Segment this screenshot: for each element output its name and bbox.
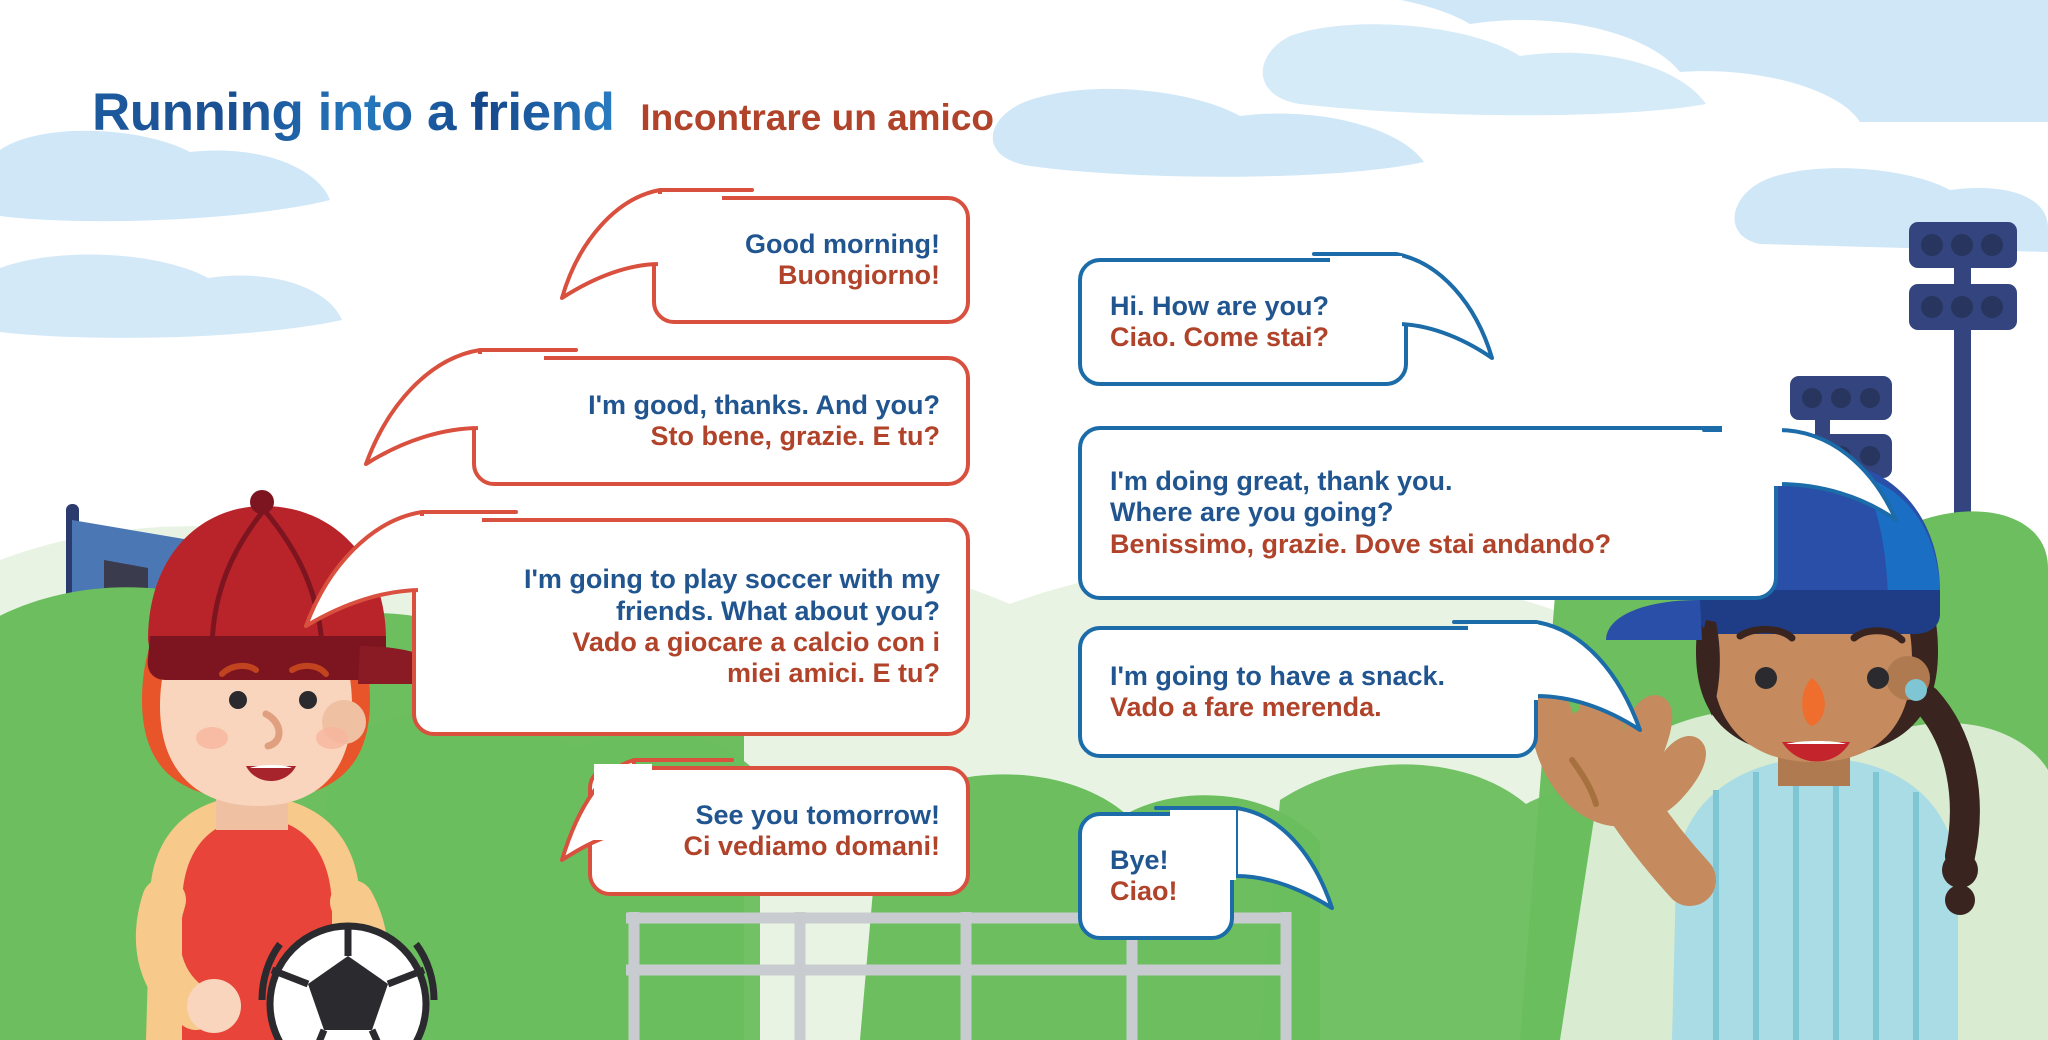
speech-bubble-3[interactable]: I'm good, thanks. And you? Sto bene, gra… [472,356,970,486]
girl-hearing-aid [1905,679,1927,701]
boy-eye-left [229,691,247,709]
bubble-5-english: I'm going to play soccer with my friends… [442,564,940,627]
speech-bubble-5[interactable]: I'm going to play soccer with my friends… [412,518,970,736]
speech-bubble-4[interactable]: I'm doing great, thank you. Where are yo… [1078,426,1778,600]
bubble-8-italian: Ciao! [1110,876,1202,907]
speech-bubble-5-notch [418,516,482,598]
bubble-3-english: I'm good, thanks. And you? [502,390,940,421]
bubble-5-italian: Vado a giocare a calcio con i miei amici… [442,627,940,690]
girl-eye-left [1755,667,1777,689]
girl-eye-right [1867,667,1889,689]
bubble-4-italian: Benissimo, grazie. Dove stai andando? [1110,529,1746,560]
bubble-6-english: I'm going to have a snack. [1110,661,1506,692]
bubble-3-italian: Sto bene, grazie. E tu? [502,421,940,452]
poster-canvas: Running into a friend Incontrare un amic… [0,0,2048,1040]
boy-hand-left [187,979,241,1033]
boy-eye-right [299,691,317,709]
speech-bubble-8-notch [1170,810,1236,880]
poster-header: Running into a friend Incontrare un amic… [92,82,994,143]
speech-bubble-3-notch [478,354,544,436]
page-title: Running into a friend [92,82,614,143]
bubble-4-english: I'm doing great, thank you. Where are yo… [1110,466,1746,529]
speech-bubble-2-notch [1330,256,1402,328]
bubble-7-english: See you tomorrow! [618,800,940,831]
boy-cap-band [148,636,386,680]
speech-bubble-1-notch [658,194,722,272]
bubble-6-italian: Vado a fare merenda. [1110,692,1506,723]
speech-bubble-7-notch [594,764,652,840]
speech-bubble-4-notch [1722,424,1782,486]
speech-bubble-6-notch [1468,624,1538,700]
bubble-7-italian: Ci vediamo domani! [618,831,940,862]
page-subtitle: Incontrare un amico [640,97,994,139]
